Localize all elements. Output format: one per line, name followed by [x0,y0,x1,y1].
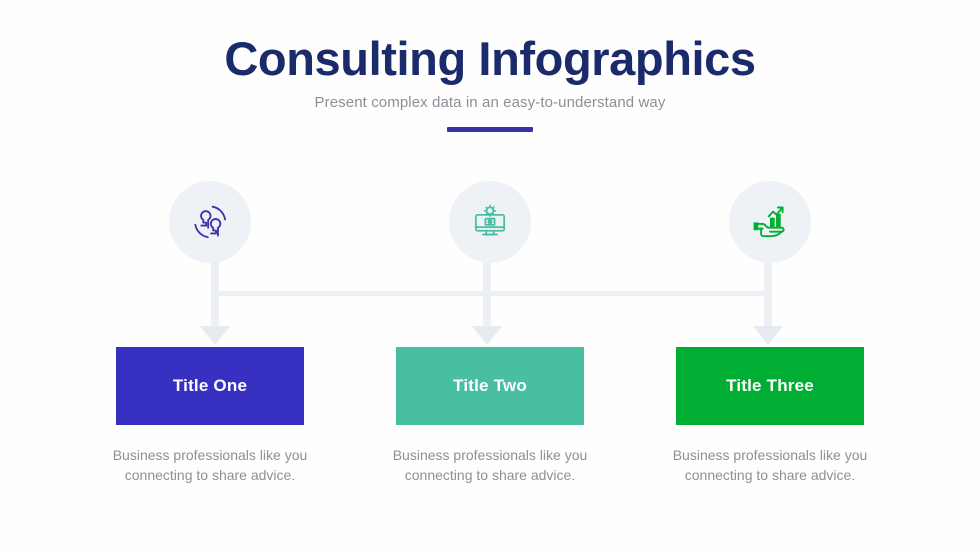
header: Consulting Infographics Present complex … [0,34,980,132]
icon-circle-1[interactable] [169,181,251,263]
column-2: Title Two Business professionals like yo… [350,181,630,486]
body-text-2: Business professionals like you connecti… [390,445,590,486]
accent-divider [447,127,533,132]
body-text-1: Business professionals like you connecti… [110,445,310,486]
title-box-label-3: Title Three [726,376,814,396]
icon-circle-3[interactable] [729,181,811,263]
title-box-1[interactable]: Title One [116,347,304,425]
body-text-3: Business professionals like you connecti… [670,445,870,486]
title-box-label-2: Title Two [453,376,527,396]
column-1: Title One Business professionals like yo… [70,181,350,486]
column-3: Title Three Business professionals like … [630,181,910,486]
monitor-gear-dollar-icon [470,202,510,242]
title-box-2[interactable]: Title Two [396,347,584,425]
title-box-label-1: Title One [173,376,247,396]
page-subtitle: Present complex data in an easy-to-under… [0,94,980,111]
title-box-3[interactable]: Title Three [676,347,864,425]
hand-growth-chart-icon [749,203,791,241]
people-consulting-icon [189,201,231,243]
page-title: Consulting Infographics [0,34,980,83]
icon-circle-2[interactable] [449,181,531,263]
slide-canvas: Consulting Infographics Present complex … [0,0,980,551]
columns-container: Title One Business professionals like yo… [0,181,980,486]
